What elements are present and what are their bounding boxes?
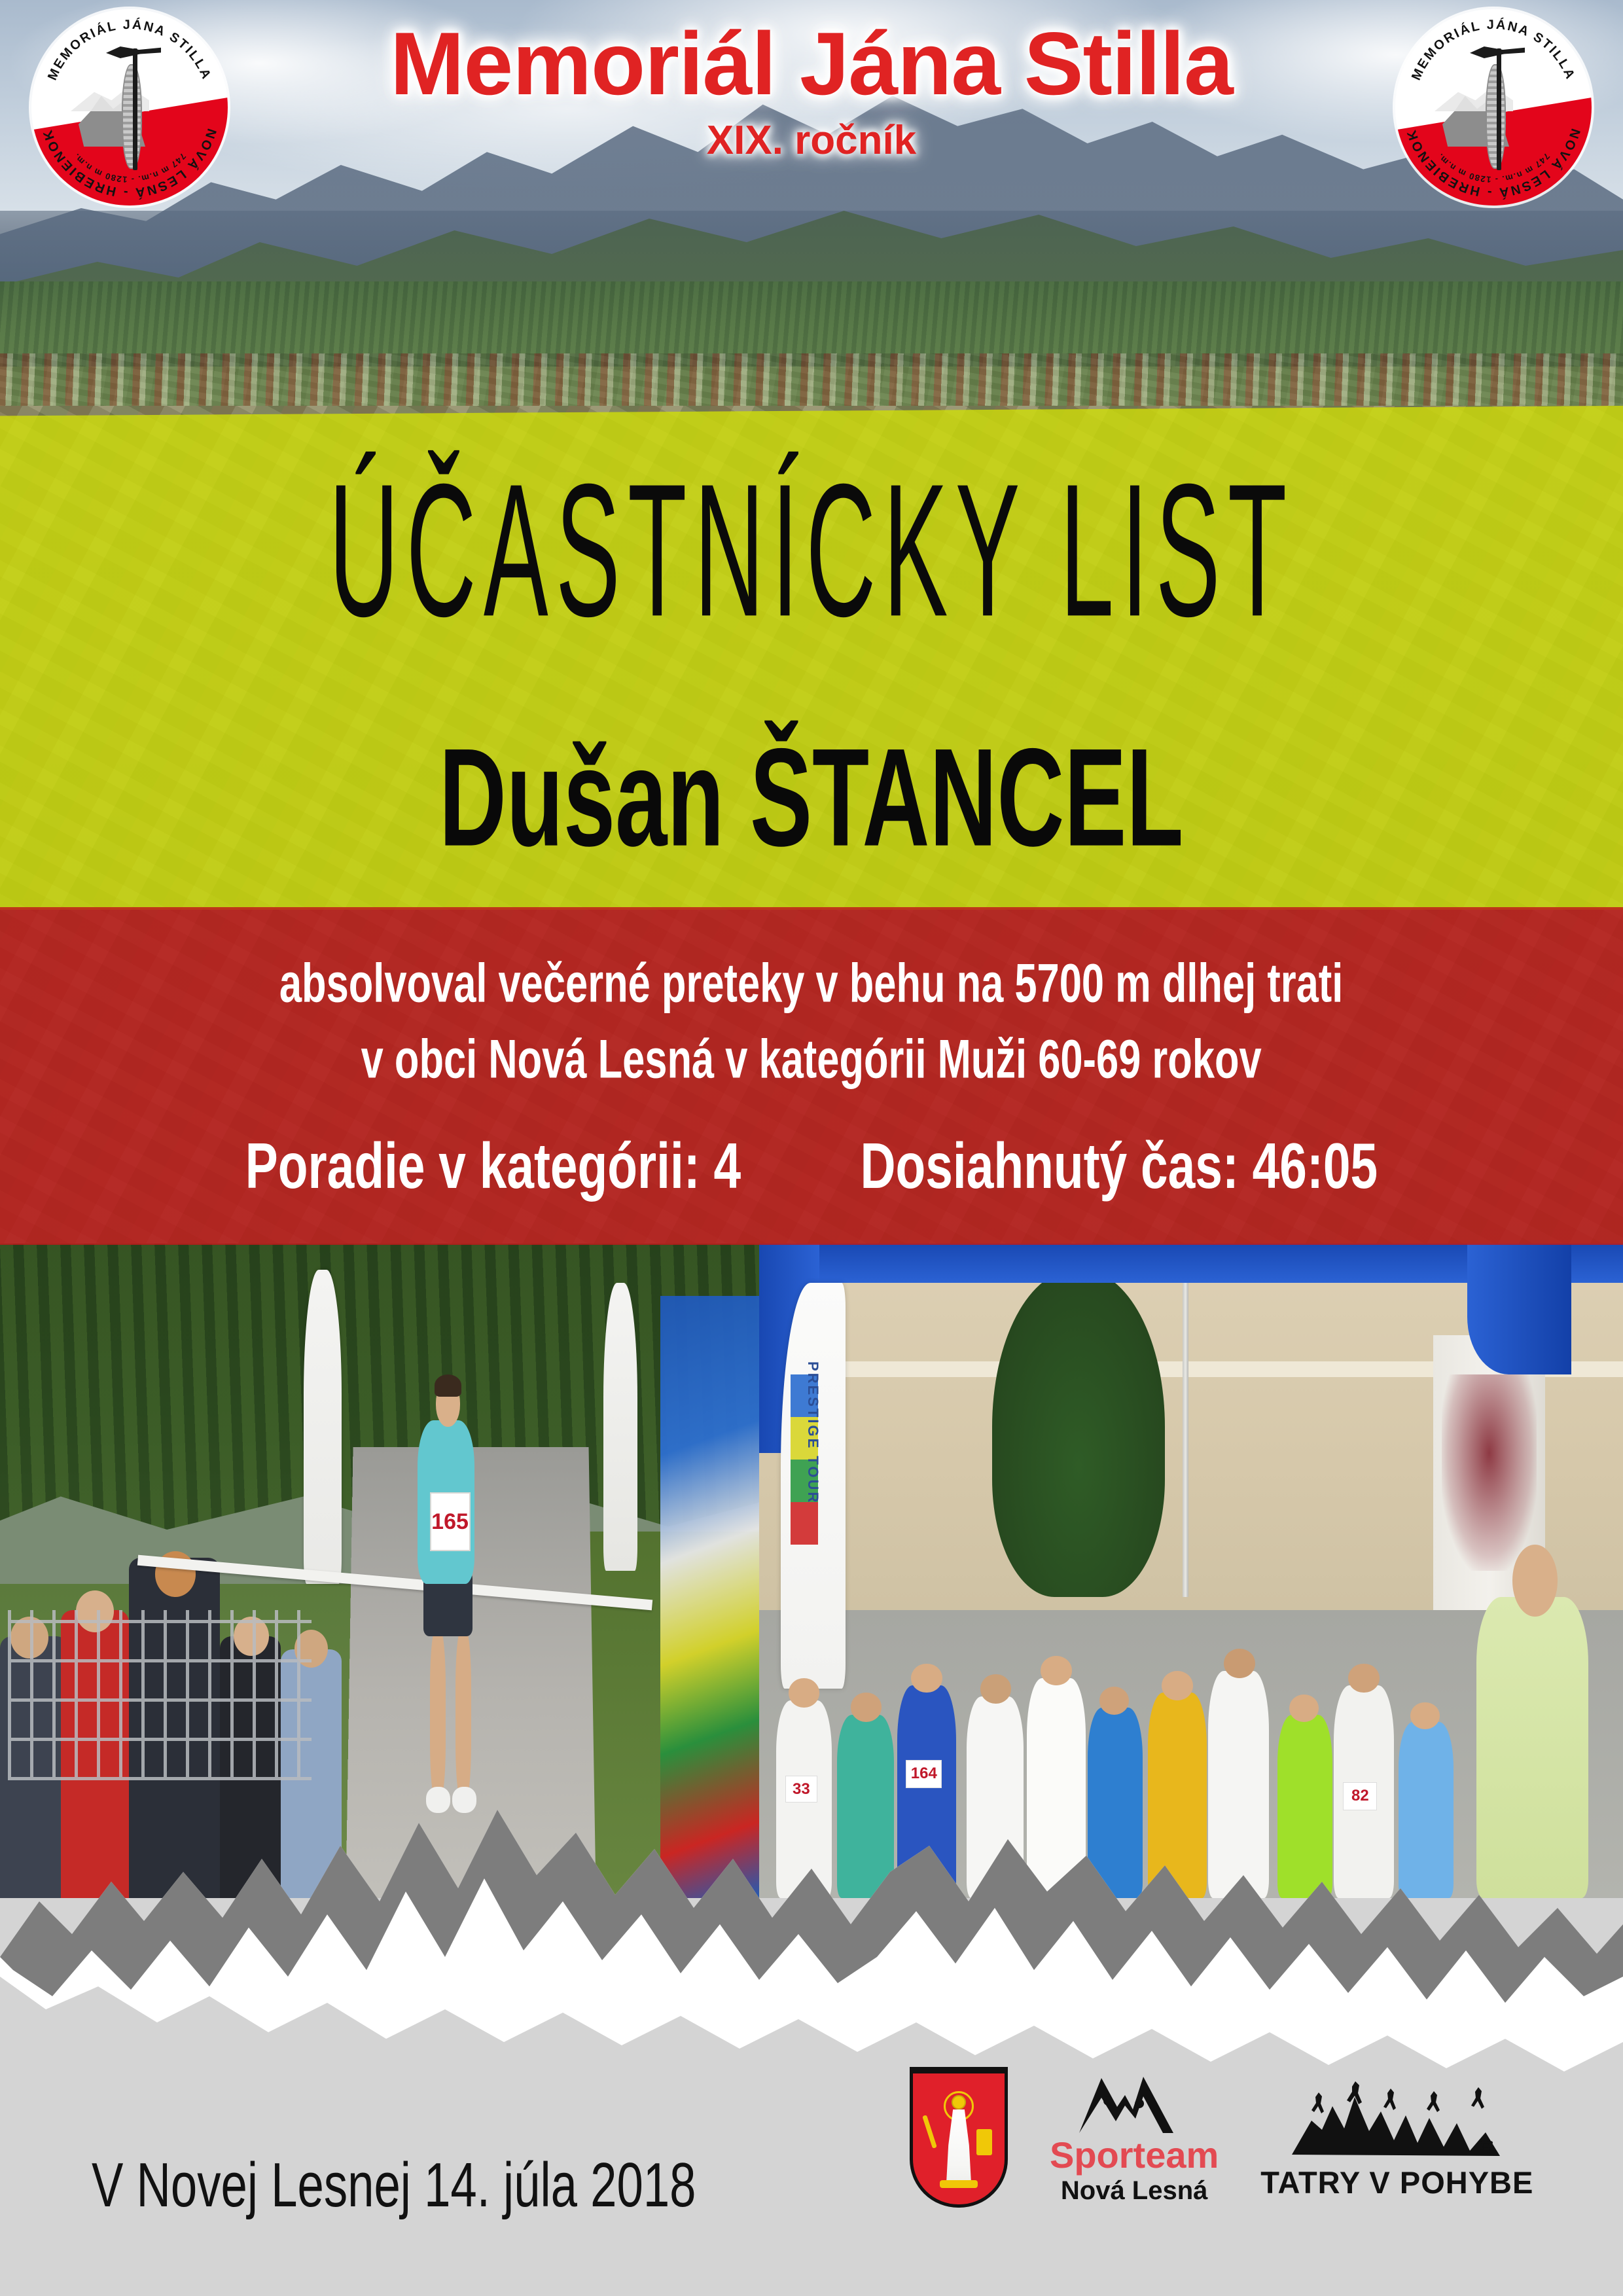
svg-text:MEMORIÁL JÁNA STILLA: MEMORIÁL JÁNA STILLA bbox=[45, 17, 214, 82]
sporteam-location: Nová Lesná bbox=[1061, 2178, 1208, 2204]
tatry-v-pohybe-name: TATRY V POHYBE bbox=[1260, 2167, 1533, 2198]
race-description-line-1: absolvoval večerné preteky v behu na 570… bbox=[279, 948, 1343, 1019]
photo-bystander bbox=[1476, 1597, 1589, 1898]
photo-runner-head bbox=[1162, 1671, 1193, 1700]
finish-time: Dosiahnutý čas: 46:05 bbox=[860, 1128, 1378, 1204]
athlete-name: Dušan ŠTANCEL bbox=[439, 717, 1183, 878]
photo-runner bbox=[1277, 1715, 1332, 1898]
emblem-text-ring: MEMORIÁL JÁNA STILLA NOVÁ LESNÁ - HREBIE… bbox=[1395, 9, 1592, 206]
race-details-block: absolvoval večerné preteky v behu na 570… bbox=[0, 907, 1623, 1245]
emblem-top-text: MEMORIÁL JÁNA STILLA bbox=[1409, 17, 1578, 82]
svg-text:MEMORIÁL JÁNA STILLA: MEMORIÁL JÁNA STILLA bbox=[1409, 17, 1578, 82]
coat-of-arms-chief bbox=[910, 2067, 1008, 2073]
photo-runner-shoe bbox=[452, 1787, 476, 1813]
tatry-mountain-runners-icon bbox=[1289, 2077, 1505, 2166]
svg-text:NOVÁ LESNÁ - HREBIENOK: NOVÁ LESNÁ - HREBIENOK bbox=[41, 127, 219, 200]
event-emblem-left: MEMORIÁL JÁNA STILLA NOVÁ LESNÁ - HREBIE… bbox=[31, 9, 228, 206]
footer-logo-row: Sporteam Nová Lesná bbox=[910, 2067, 1533, 2208]
event-emblem-right: MEMORIÁL JÁNA STILLA NOVÁ LESNÁ - HREBIE… bbox=[1395, 9, 1592, 206]
photo-arch-right-leg bbox=[1467, 1244, 1571, 1374]
finish-line-photo: 165 bbox=[0, 1244, 759, 1898]
results-row: Poradie v kategórii: 4 Dosiahnutý čas: 4… bbox=[235, 1136, 1389, 1196]
photo-sponsor-banner-right bbox=[603, 1283, 637, 1571]
photo-runner bbox=[1088, 1708, 1143, 1898]
header-panorama-photo bbox=[0, 0, 1623, 458]
photo-runner-bib: 165 bbox=[430, 1492, 471, 1551]
coat-of-arms-base-icon bbox=[940, 2180, 978, 2188]
mass-start-photo: PRESTIGE TOUR 33 164 bbox=[759, 1244, 1623, 1898]
photo-runner bbox=[1027, 1678, 1086, 1898]
photo-runner-head bbox=[1224, 1649, 1255, 1678]
photo-runner bbox=[897, 1685, 956, 1898]
participation-certificate-poster: MEMORIÁL JÁNA STILLA NOVÁ LESNÁ - HREBIE… bbox=[0, 0, 1623, 2296]
photo-crowd-barrier bbox=[8, 1610, 312, 1780]
photo-runner bbox=[1399, 1722, 1454, 1898]
emblem-text-ring: MEMORIÁL JÁNA STILLA NOVÁ LESNÁ - HREBIE… bbox=[31, 9, 228, 206]
photo-runner-head bbox=[789, 1678, 820, 1708]
photo-runner bbox=[837, 1715, 894, 1898]
race-description-line-2: v obci Nová Lesná v kategórii Muži 60-69… bbox=[361, 1024, 1262, 1094]
photo-runner-head bbox=[1041, 1656, 1072, 1685]
photo-runner-leg bbox=[455, 1630, 471, 1800]
photo-runner-head bbox=[911, 1664, 942, 1693]
photo-runner-bib-number: 165 bbox=[431, 1511, 469, 1533]
photo-bystander-head bbox=[1512, 1545, 1558, 1617]
photo-runner-bib: 164 bbox=[906, 1760, 942, 1788]
photo-sponsor-banner-left bbox=[304, 1270, 342, 1584]
emblem-bottom-text: NOVÁ LESNÁ - HREBIENOK bbox=[1404, 127, 1583, 200]
photo-runner bbox=[1208, 1671, 1268, 1898]
photo-runner-hair bbox=[435, 1374, 462, 1397]
photo-runner-leg bbox=[430, 1630, 446, 1800]
svg-text:NOVÁ LESNÁ - HREBIENOK: NOVÁ LESNÁ - HREBIENOK bbox=[1404, 127, 1583, 200]
certificate-heading-block: ÚČASTNÍCKY LIST Dušan ŠTANCEL bbox=[0, 406, 1623, 910]
tatry-v-pohybe-logo: TATRY V POHYBE bbox=[1260, 2077, 1533, 2198]
photo-runner-head bbox=[1099, 1687, 1129, 1715]
sporteam-name: Sporteam bbox=[1050, 2137, 1219, 2174]
photo-runner-bib: 33 bbox=[785, 1776, 818, 1803]
race-photos-row: 165 PRESTIGE TOUR 33 bbox=[0, 1244, 1623, 1898]
emblem-top-text: MEMORIÁL JÁNA STILLA bbox=[45, 17, 214, 82]
emblem-bottom-text: NOVÁ LESNÁ - HREBIENOK bbox=[41, 127, 219, 200]
sporteam-logo: Sporteam Nová Lesná bbox=[1050, 2072, 1219, 2204]
photo-sponsor-flag bbox=[660, 1296, 759, 1898]
sporteam-mountain-icon bbox=[1075, 2072, 1193, 2136]
nova-lesna-coat-of-arms bbox=[910, 2067, 1008, 2208]
coat-of-arms-book-icon bbox=[976, 2129, 992, 2155]
photo-runner bbox=[1148, 1693, 1207, 1898]
coat-of-arms-saint-head-icon bbox=[952, 2095, 966, 2109]
photo-runner-shoe bbox=[426, 1787, 450, 1813]
issue-place-date: V Novej Lesnej 14. júla 2018 bbox=[92, 2148, 696, 2221]
photo-runner-bib: 82 bbox=[1343, 1782, 1377, 1810]
certificate-heading: ÚČASTNÍCKY LIST bbox=[329, 442, 1294, 660]
photo-runner bbox=[967, 1696, 1024, 1898]
photo-runner-head bbox=[1348, 1664, 1380, 1693]
category-rank: Poradie v kategórii: 4 bbox=[245, 1128, 740, 1204]
photo-sponsor-flag-text: PRESTIGE TOUR bbox=[804, 1361, 821, 1504]
